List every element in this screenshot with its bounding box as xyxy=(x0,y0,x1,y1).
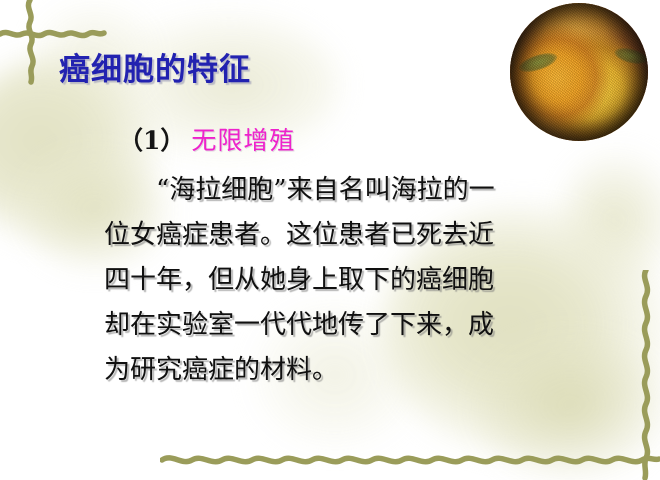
subheading-number: （1） xyxy=(118,126,185,155)
micrograph-vignette xyxy=(510,3,648,141)
body-line: 为研究癌症的材料。 xyxy=(104,348,604,393)
slide-canvas: 癌细胞的特征 （1）无限增殖 “海拉细胞”来自名叫海拉的一 位女癌症患者。这位患… xyxy=(0,0,660,480)
cancer-cell-micrograph-image xyxy=(510,3,648,141)
subheading: （1）无限增殖 xyxy=(118,128,295,153)
subheading-term: 无限增殖 xyxy=(191,126,295,155)
slide-title: 癌细胞的特征 xyxy=(59,55,251,86)
body-line: 四十年，但从她身上取下的癌细胞 xyxy=(104,258,604,303)
body-paragraph: “海拉细胞”来自名叫海拉的一 位女癌症患者。这位患者已死去近 四十年，但从她身上… xyxy=(104,168,604,393)
body-line: “海拉细胞”来自名叫海拉的一 xyxy=(104,168,604,213)
body-line: 却在实验室一代代地传了下来，成 xyxy=(104,303,604,348)
wavy-line-right-decoration xyxy=(632,270,660,480)
wavy-line-bottom-decoration xyxy=(160,444,660,472)
body-line: 位女癌症患者。这位患者已死去近 xyxy=(104,213,604,258)
